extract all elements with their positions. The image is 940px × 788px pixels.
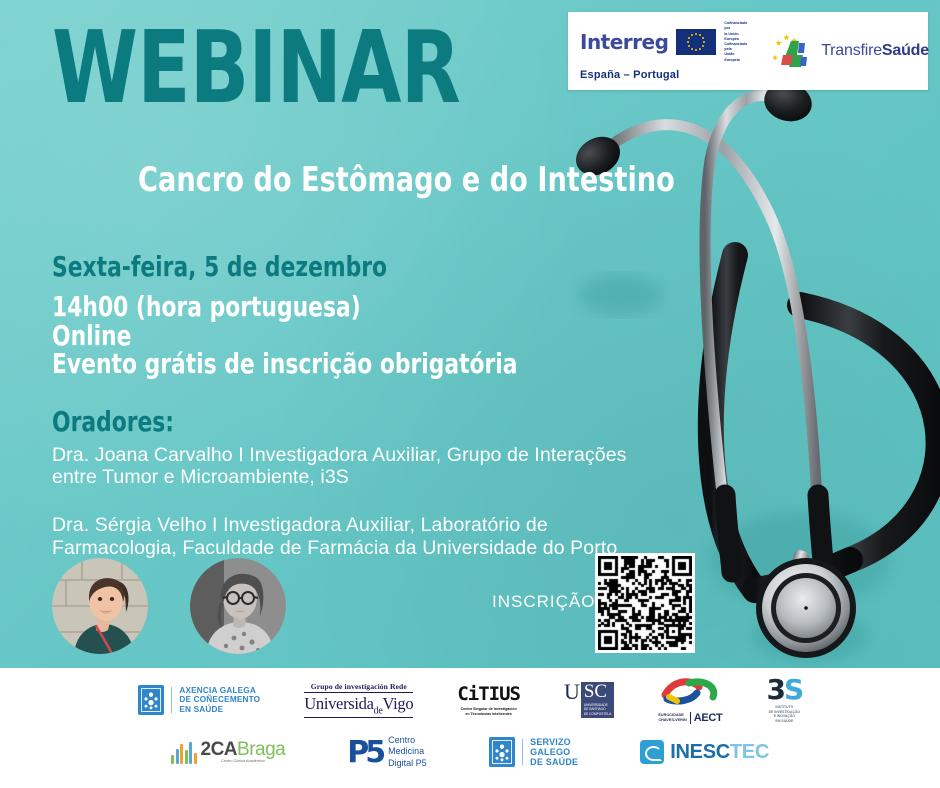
speaker-1-line1: Dra. Joana Carvalho I Investigadora Auxi… bbox=[52, 444, 627, 466]
aect-swirl-icon bbox=[659, 692, 721, 709]
transfiresaude-logo: TransfireSaúde bbox=[771, 29, 929, 73]
eu-flag-icon bbox=[676, 29, 716, 55]
interreg-logo: Interreg Cofinanciado por la Unión Europ… bbox=[580, 21, 747, 81]
transfire-mark-icon bbox=[771, 29, 815, 73]
interreg-wordmark: Interreg bbox=[580, 30, 668, 54]
logo-citius: CiTIUS Centro Singular de Investigación … bbox=[457, 683, 520, 717]
page-title: WEBINAR bbox=[52, 18, 460, 118]
logo-aect: EUROCIDADE CHAVES-VERIN AECT bbox=[658, 677, 722, 724]
registration-label: INSCRIÇÃO bbox=[492, 592, 595, 612]
aect-city-text: EUROCIDADE CHAVES-VERIN bbox=[658, 713, 686, 723]
stethoscope-chestpiece bbox=[738, 530, 918, 670]
header-logo-bar: Interreg Cofinanciado por la Unión Europ… bbox=[568, 12, 928, 90]
webinar-poster: Interreg Cofinanciado por la Unión Europ… bbox=[0, 0, 940, 788]
2ca-braga-text: 2CABraga Centro Clínico Académico bbox=[201, 740, 286, 764]
logo-separator bbox=[171, 687, 173, 713]
speaker-2-avatar bbox=[190, 558, 286, 654]
speaker-1-line2: entre Tumor e Microambiente, i3S bbox=[52, 466, 724, 488]
interreg-subtitle: España – Portugal bbox=[580, 69, 747, 81]
speaker-1: Dra. Joana Carvalho I Investigadora Auxi… bbox=[52, 444, 724, 488]
qr-code[interactable] bbox=[595, 553, 695, 653]
aect-wordmark: AECT bbox=[694, 712, 723, 724]
xunta-shield-icon bbox=[138, 685, 164, 715]
logo-universidade-de-vigo: Grupo de investigación Rede Universidade… bbox=[304, 682, 413, 718]
logo-p5: P5 Centro Medicina Digital P5 bbox=[347, 735, 426, 769]
inesctec-mark-icon bbox=[640, 740, 664, 764]
logo-separator-2 bbox=[522, 739, 524, 765]
p5-text: Centro Medicina Digital P5 bbox=[388, 735, 427, 769]
usc-letter-u: U bbox=[564, 682, 580, 703]
event-time: 14h00 (hora portuguesa) bbox=[52, 293, 518, 322]
logo-servizo-galego-de-saude: SERVIZO GALEGO DE SAÚDE bbox=[489, 737, 579, 767]
aect-text-row: EUROCIDADE CHAVES-VERIN AECT bbox=[658, 712, 722, 724]
logo-2ca-braga: 2CABraga Centro Clínico Académico bbox=[171, 740, 285, 764]
usc-box: SC UNIVERSIDADE DE SANTIAGO DE COMPOSTEL… bbox=[581, 682, 614, 717]
uvigo-rule-top bbox=[304, 692, 413, 693]
speaker-1-avatar bbox=[52, 558, 148, 654]
inesctec-wordmark: INESCTEC bbox=[670, 741, 769, 764]
xunta-shield-icon-2 bbox=[489, 737, 515, 767]
event-registration-note: Evento grátis de inscrição obrigatória bbox=[52, 350, 518, 379]
usc-letters-sc: SC bbox=[584, 681, 607, 702]
2ca-braga-subtitle: Centro Clínico Académico bbox=[201, 760, 286, 764]
aect-separator bbox=[690, 712, 691, 724]
logo-i3s: 3S INSTITUTO DE INVESTIGAÇÃO E INOVAÇÃO … bbox=[766, 677, 802, 724]
logo-usc: U SC UNIVERSIDADE DE SANTIAGO DE COMPOST… bbox=[564, 682, 614, 717]
citius-wordmark: CiTIUS bbox=[457, 683, 520, 705]
event-info-block: Sexta-feira, 5 de dezembro 14h00 (hora p… bbox=[52, 250, 649, 379]
speakers-heading: Oradores: bbox=[52, 405, 582, 438]
footer-logo-row-2: 2CABraga Centro Clínico Académico P5 Cen… bbox=[0, 726, 940, 778]
speakers-block: Oradores: Dra. Joana Carvalho I Investig… bbox=[52, 405, 732, 559]
i3s-subtitle: INSTITUTO DE INVESTIGAÇÃO E INOVAÇÃO EM … bbox=[766, 705, 802, 723]
axencia-galega-text: AXENCIA GALEGA DE COÑECEMENTO EN SAÚDE bbox=[179, 686, 260, 714]
uvigo-wordmark: UniversidadeVigo bbox=[304, 694, 413, 716]
footer-logo-row-1: AXENCIA GALEGA DE COÑECEMENTO EN SAÚDE G… bbox=[0, 668, 940, 726]
page-subtitle: Cancro do Estômago e do Intestino bbox=[138, 160, 675, 200]
event-format: Online bbox=[52, 322, 518, 351]
sergas-text: SERVIZO GALEGO DE SAÚDE bbox=[530, 737, 578, 767]
speaker-2-line1: Dra. Sérgia Velho I Investigadora Auxili… bbox=[52, 514, 548, 536]
logo-axencia-galega: AXENCIA GALEGA DE COÑECEMENTO EN SAÚDE bbox=[138, 685, 260, 715]
logo-inesctec: INESCTEC bbox=[640, 740, 769, 764]
citius-subtitle: Centro Singular de Investigación en Tecn… bbox=[457, 707, 520, 717]
usc-subtitle: UNIVERSIDADE DE SANTIAGO DE COMPOSTELA bbox=[584, 703, 611, 715]
i3s-wordmark: 3S bbox=[766, 677, 802, 704]
2ca-braga-wordmark: 2CABraga bbox=[201, 739, 286, 760]
p5-mark-icon: P5 bbox=[347, 739, 382, 766]
event-date: Sexta-feira, 5 de dezembro bbox=[52, 250, 518, 283]
footer-logo-band: AXENCIA GALEGA DE COÑECEMENTO EN SAÚDE G… bbox=[0, 668, 940, 788]
2ca-bars-icon bbox=[171, 742, 197, 764]
uvigo-top-text: Grupo de investigación Rede bbox=[304, 682, 413, 691]
uvigo-rule-bottom bbox=[304, 717, 413, 718]
eu-cofinance-text: Cofinanciado por la Unión Europea Cofina… bbox=[724, 21, 747, 63]
transfiresaude-wordmark: TransfireSaúde bbox=[821, 42, 929, 60]
